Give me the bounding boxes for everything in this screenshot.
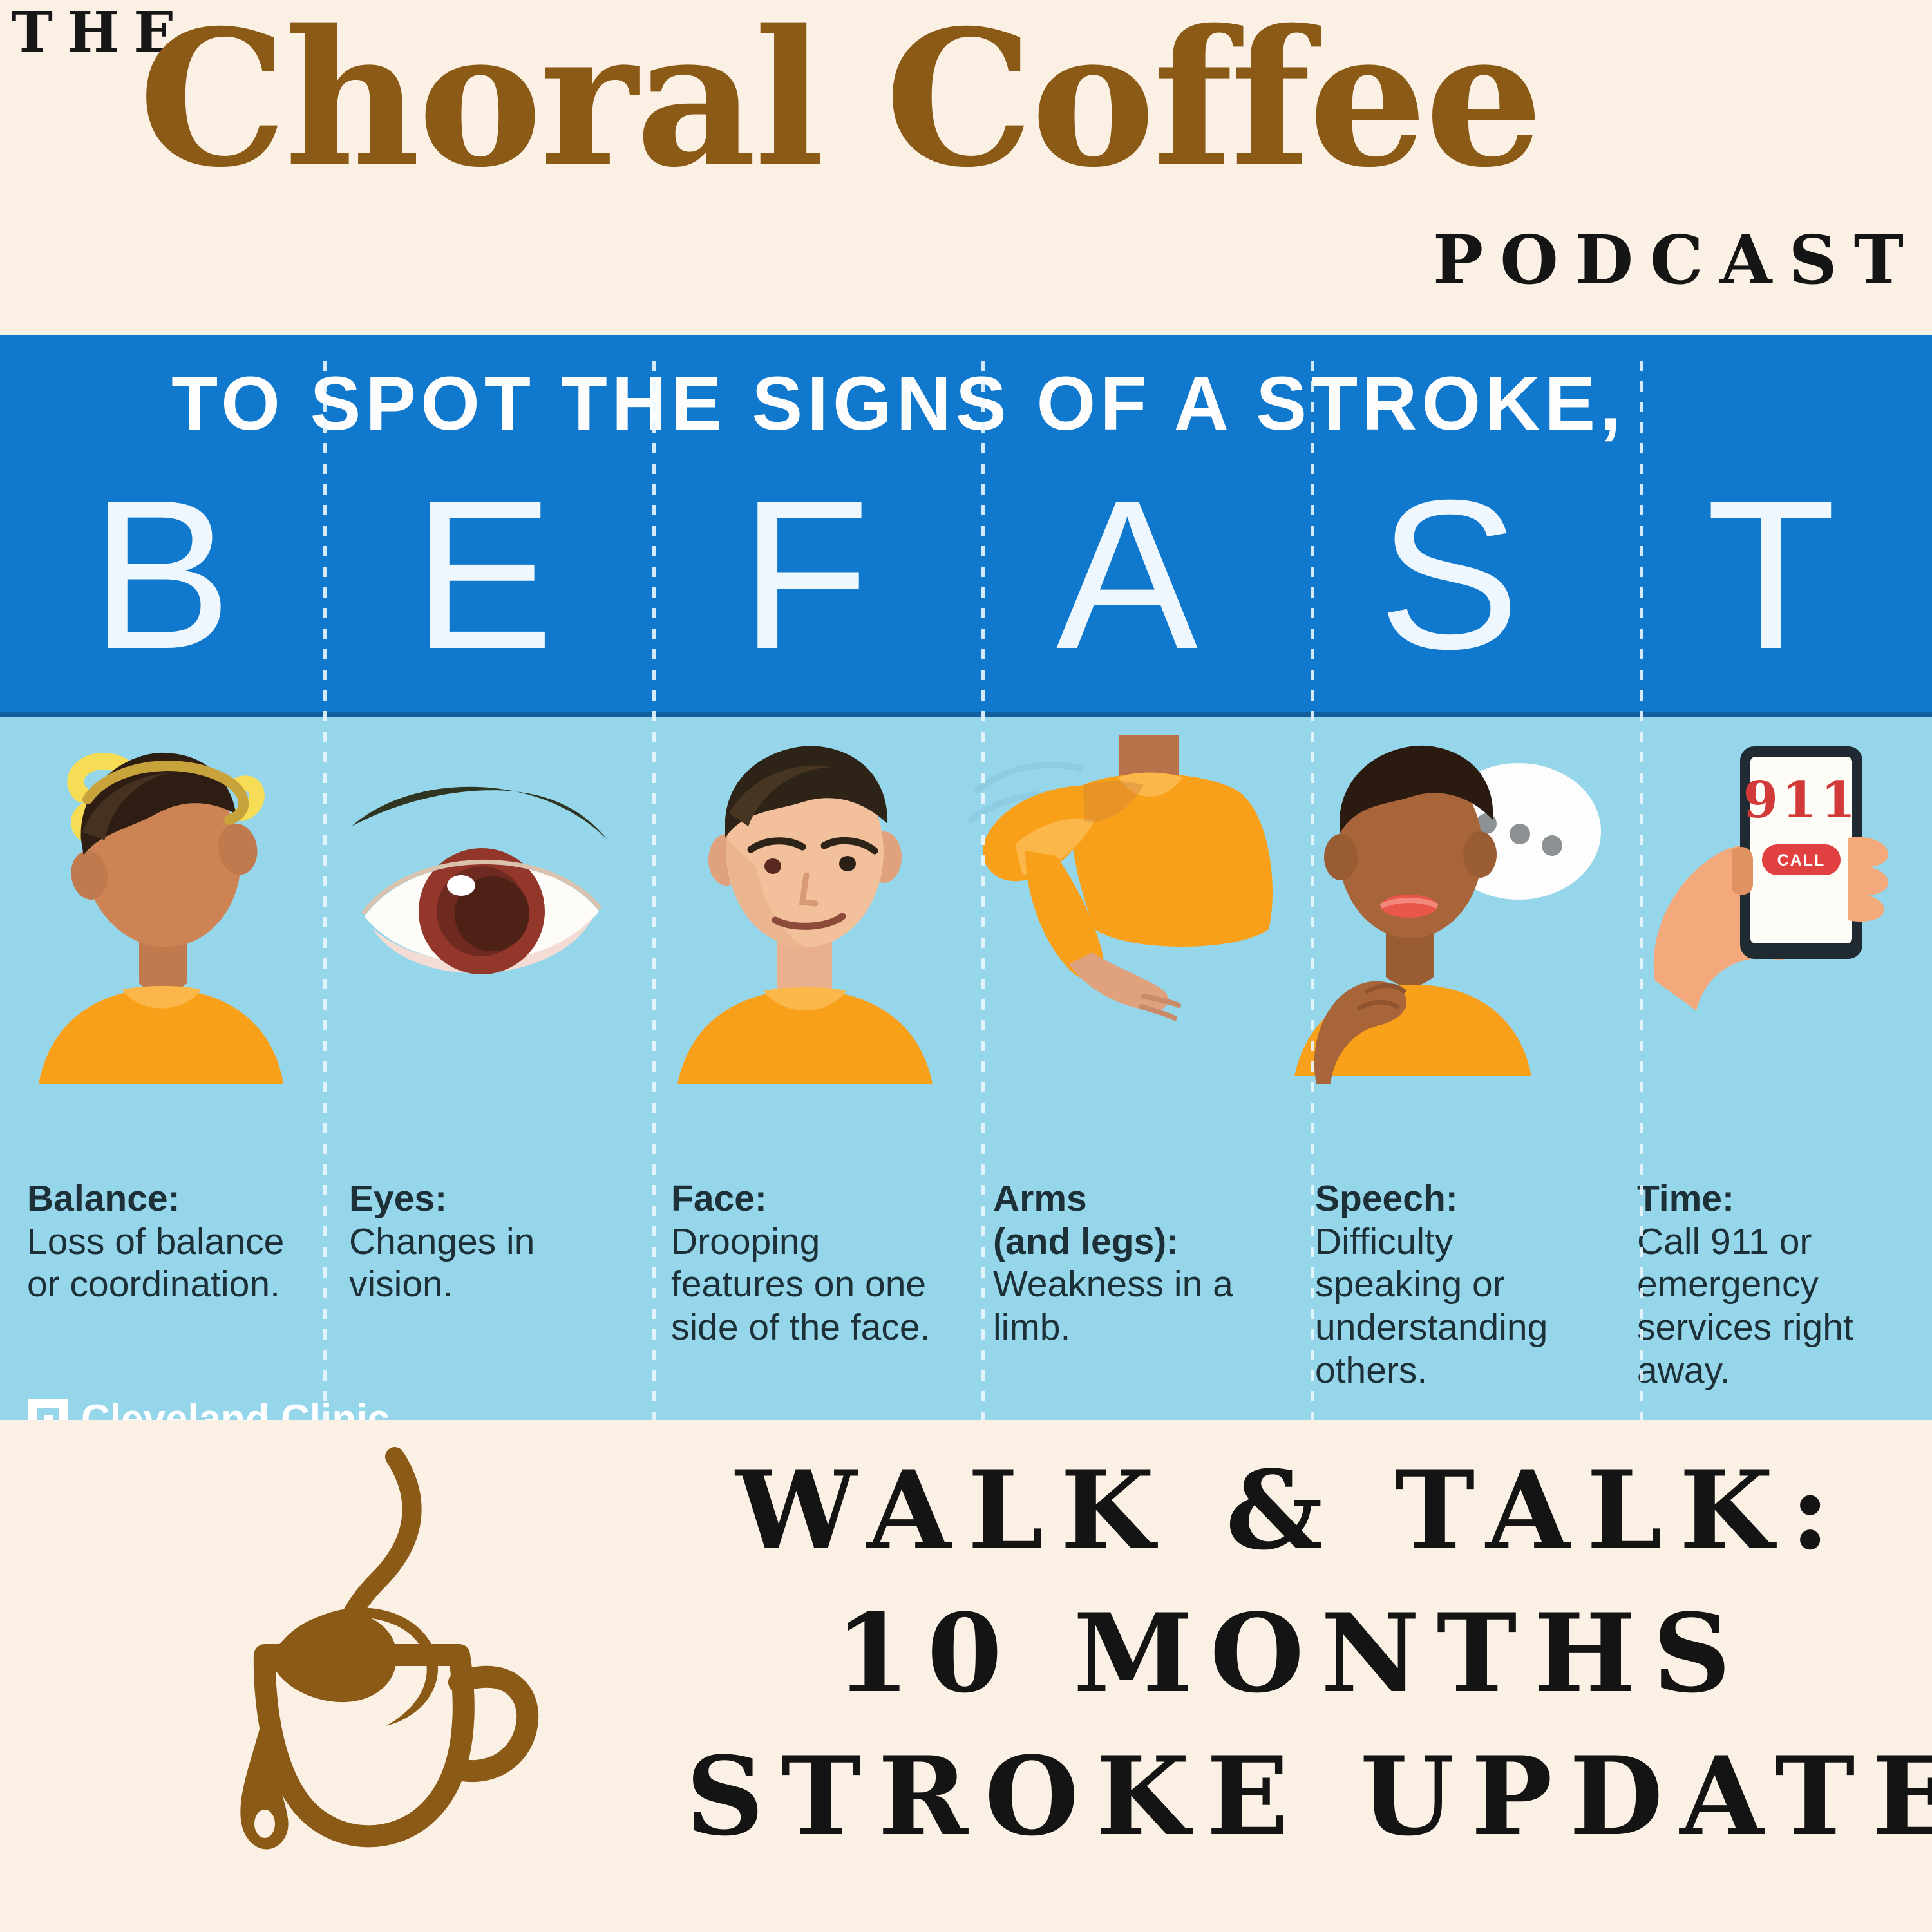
podcast-word-label: PODCAST <box>1433 227 1920 294</box>
sign-description-arms: Weakness in a limb. <box>993 1263 1275 1349</box>
podcast-title: Choral Coffee <box>138 8 1916 191</box>
sign-label-speech: Speech: <box>1315 1177 1597 1220</box>
acronym-letter-e: E <box>412 473 554 676</box>
sign-description-face: Drooping features on one side of the fac… <box>671 1220 953 1349</box>
sign-text-arms: Arms (and legs): Weakness in a limb. <box>993 1177 1275 1349</box>
weak-arm-icon <box>966 717 1288 1168</box>
column-divider-3 <box>981 361 985 1420</box>
acronym-cell-a: A <box>966 473 1288 705</box>
drooping-face-icon <box>644 717 966 1168</box>
sign-text-balance: Balance: Loss of balance or coordination… <box>27 1177 309 1306</box>
sign-description-speech: Difficulty speaking or understanding oth… <box>1315 1220 1597 1392</box>
sign-description-balance: Loss of balance or coordination. <box>27 1220 309 1306</box>
acronym-letter-t: T <box>1706 473 1836 676</box>
episode-title-line1: WALK & TALK: <box>686 1439 1897 1582</box>
coffee-cup-icon <box>138 1443 589 1922</box>
phone-911-icon: 911 CALL <box>1610 717 1932 1168</box>
sign-column-face: Face: Drooping features on one side of t… <box>644 717 966 1420</box>
speech-bubble-person-icon <box>1288 717 1610 1168</box>
eye-icon <box>322 717 644 1168</box>
acronym-cell-t: T <box>1610 473 1932 705</box>
sign-description-time: Call 911 or emergency services right awa… <box>1637 1220 1919 1392</box>
column-divider-2 <box>652 361 656 1420</box>
sign-text-eyes: Eyes: Changes in vision. <box>349 1177 631 1306</box>
sign-label-arms-line2: (and legs): <box>993 1220 1275 1264</box>
sign-column-balance: Balance: Loss of balance or coordination… <box>0 717 322 1420</box>
acronym-letter-f: F <box>740 473 870 676</box>
episode-footer: WALK & TALK: 10 MONTHS STROKE UPDATE <box>0 1420 1932 1932</box>
column-divider-1 <box>323 361 327 1420</box>
podcast-cover: THE Choral Coffee PODCAST TO SPOT THE SI… <box>0 0 1932 1932</box>
column-divider-4 <box>1311 361 1314 1420</box>
acronym-letter-a: A <box>1056 473 1198 676</box>
column-divider-5 <box>1640 361 1643 1420</box>
episode-title-line3: STROKE UPDATE <box>686 1725 1897 1868</box>
sign-text-speech: Speech: Difficulty speaking or understan… <box>1315 1177 1597 1392</box>
phone-number-text: 911 <box>1743 771 1860 829</box>
sign-description-eyes: Changes in vision. <box>349 1220 631 1306</box>
sign-label-balance: Balance: <box>27 1177 309 1220</box>
sign-text-time: Time: Call 911 or emergency services rig… <box>1637 1177 1919 1392</box>
banner-subtitle: TO SPOT THE SIGNS OF A STROKE, <box>0 366 1797 442</box>
sign-column-speech: Speech: Difficulty speaking or understan… <box>1288 717 1610 1420</box>
episode-title-line2: 10 MONTHS <box>686 1582 1897 1725</box>
sign-label-arms-line1: Arms <box>993 1177 1275 1220</box>
episode-title: WALK & TALK: 10 MONTHS STROKE UPDATE <box>686 1439 1897 1868</box>
phone-call-button-text: CALL <box>1777 851 1826 869</box>
acronym-cell-e: E <box>322 473 644 705</box>
sign-column-time: 911 CALL Time: Call 911 or emergency ser… <box>1610 717 1932 1420</box>
sign-text-face: Face: Drooping features on one side of t… <box>671 1177 953 1349</box>
sign-column-eyes: Eyes: Changes in vision. <box>322 717 644 1420</box>
acronym-letter-b: B <box>90 473 232 676</box>
acronym-cell-f: F <box>644 473 966 705</box>
brand-header: THE Choral Coffee PODCAST <box>0 0 1932 335</box>
acronym-cell-s: S <box>1288 473 1610 705</box>
sign-column-arms: Arms (and legs): Weakness in a limb. <box>966 717 1288 1420</box>
acronym-cell-b: B <box>0 473 322 705</box>
sign-label-time: Time: <box>1637 1177 1919 1220</box>
sign-label-eyes: Eyes: <box>349 1177 631 1220</box>
dizzy-head-icon <box>0 717 322 1168</box>
acronym-letter-s: S <box>1378 473 1520 676</box>
sign-label-face: Face: <box>671 1177 953 1220</box>
